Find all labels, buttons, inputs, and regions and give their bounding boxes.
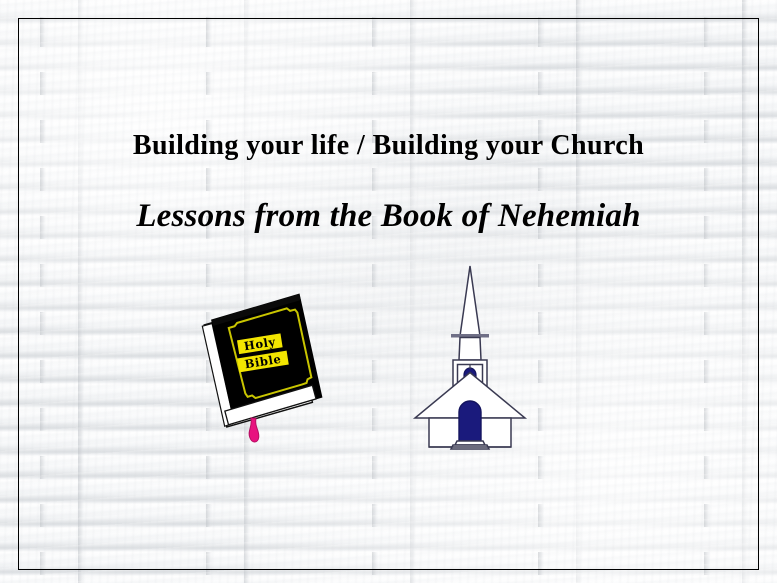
church-door bbox=[459, 401, 481, 441]
holy-bible-image: Holy Bible bbox=[196, 288, 332, 450]
brick-wall-background bbox=[0, 0, 777, 583]
presentation-slide: Building your life / Building your Churc… bbox=[0, 0, 777, 583]
church-building-image bbox=[404, 262, 536, 454]
church-steeple-column bbox=[459, 338, 481, 361]
slide-title: Building your life / Building your Churc… bbox=[0, 129, 777, 163]
church-spire bbox=[460, 266, 480, 336]
slide-subtitle: Lessons from the Book of Nehemiah bbox=[0, 196, 777, 236]
